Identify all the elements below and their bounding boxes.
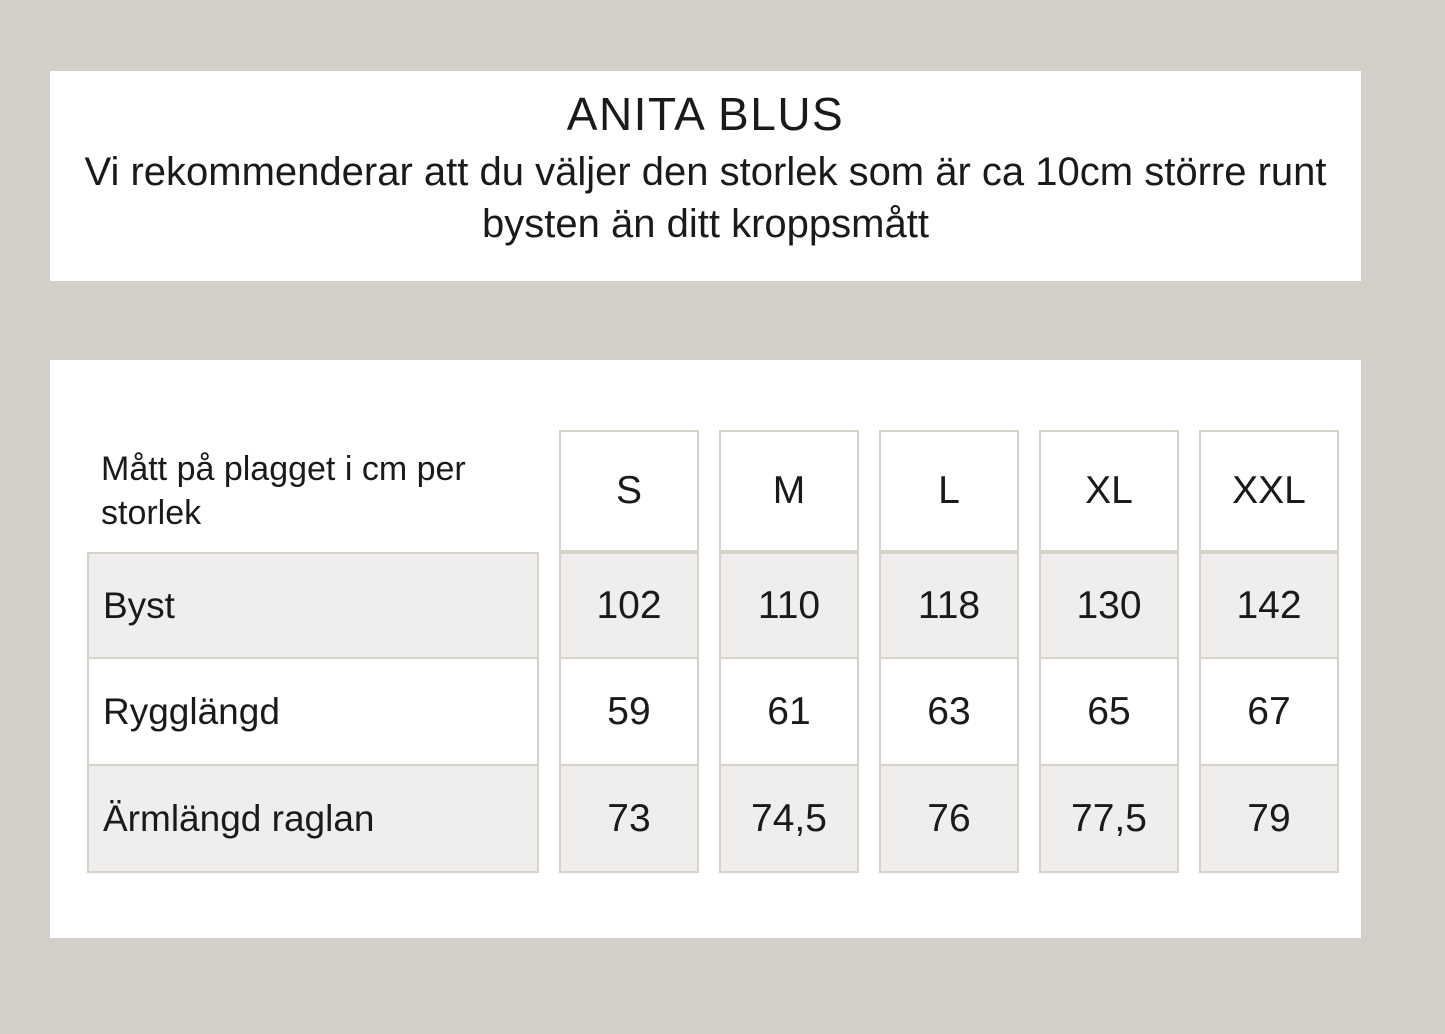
size-guide-page: ANITA BLUS Vi rekommenderar att du välje… xyxy=(0,0,1445,1034)
size-header-s: S xyxy=(559,430,699,552)
table-header-row: Mått på plagget i cm per storlek S M L X… xyxy=(87,430,1327,552)
header-panel: ANITA BLUS Vi rekommenderar att du välje… xyxy=(50,71,1361,281)
measurement-value: 65 xyxy=(1039,659,1179,766)
measurement-label: Ärmlängd raglan xyxy=(87,766,539,873)
table-row: Ärmlängd raglan 73 74,5 76 77,5 79 xyxy=(87,766,1327,873)
measurement-value: 110 xyxy=(719,552,859,659)
measurement-label: Rygglängd xyxy=(87,659,539,766)
measurement-value: 102 xyxy=(559,552,699,659)
measurement-label: Byst xyxy=(87,552,539,659)
measurement-value: 79 xyxy=(1199,766,1339,873)
table-corner-label: Mått på plagget i cm per storlek xyxy=(87,430,539,552)
size-table-panel: Mått på plagget i cm per storlek S M L X… xyxy=(50,360,1361,938)
measurement-value: 67 xyxy=(1199,659,1339,766)
size-header-xl: XL xyxy=(1039,430,1179,552)
measurement-value: 77,5 xyxy=(1039,766,1179,873)
measurement-value: 61 xyxy=(719,659,859,766)
size-header-l: L xyxy=(879,430,1019,552)
size-table: Mått på plagget i cm per storlek S M L X… xyxy=(87,430,1327,873)
measurement-value: 59 xyxy=(559,659,699,766)
size-header-xxl: XXL xyxy=(1199,430,1339,552)
measurement-value: 76 xyxy=(879,766,1019,873)
size-header-m: M xyxy=(719,430,859,552)
measurement-value: 63 xyxy=(879,659,1019,766)
measurement-value: 130 xyxy=(1039,552,1179,659)
measurement-value: 142 xyxy=(1199,552,1339,659)
measurement-value: 73 xyxy=(559,766,699,873)
table-row: Rygglängd 59 61 63 65 67 xyxy=(87,659,1327,766)
recommendation-text: Vi rekommenderar att du väljer den storl… xyxy=(71,146,1341,252)
measurement-value: 118 xyxy=(879,552,1019,659)
measurement-value: 74,5 xyxy=(719,766,859,873)
table-row: Byst 102 110 118 130 142 xyxy=(87,552,1327,659)
page-title: ANITA BLUS xyxy=(567,89,844,140)
